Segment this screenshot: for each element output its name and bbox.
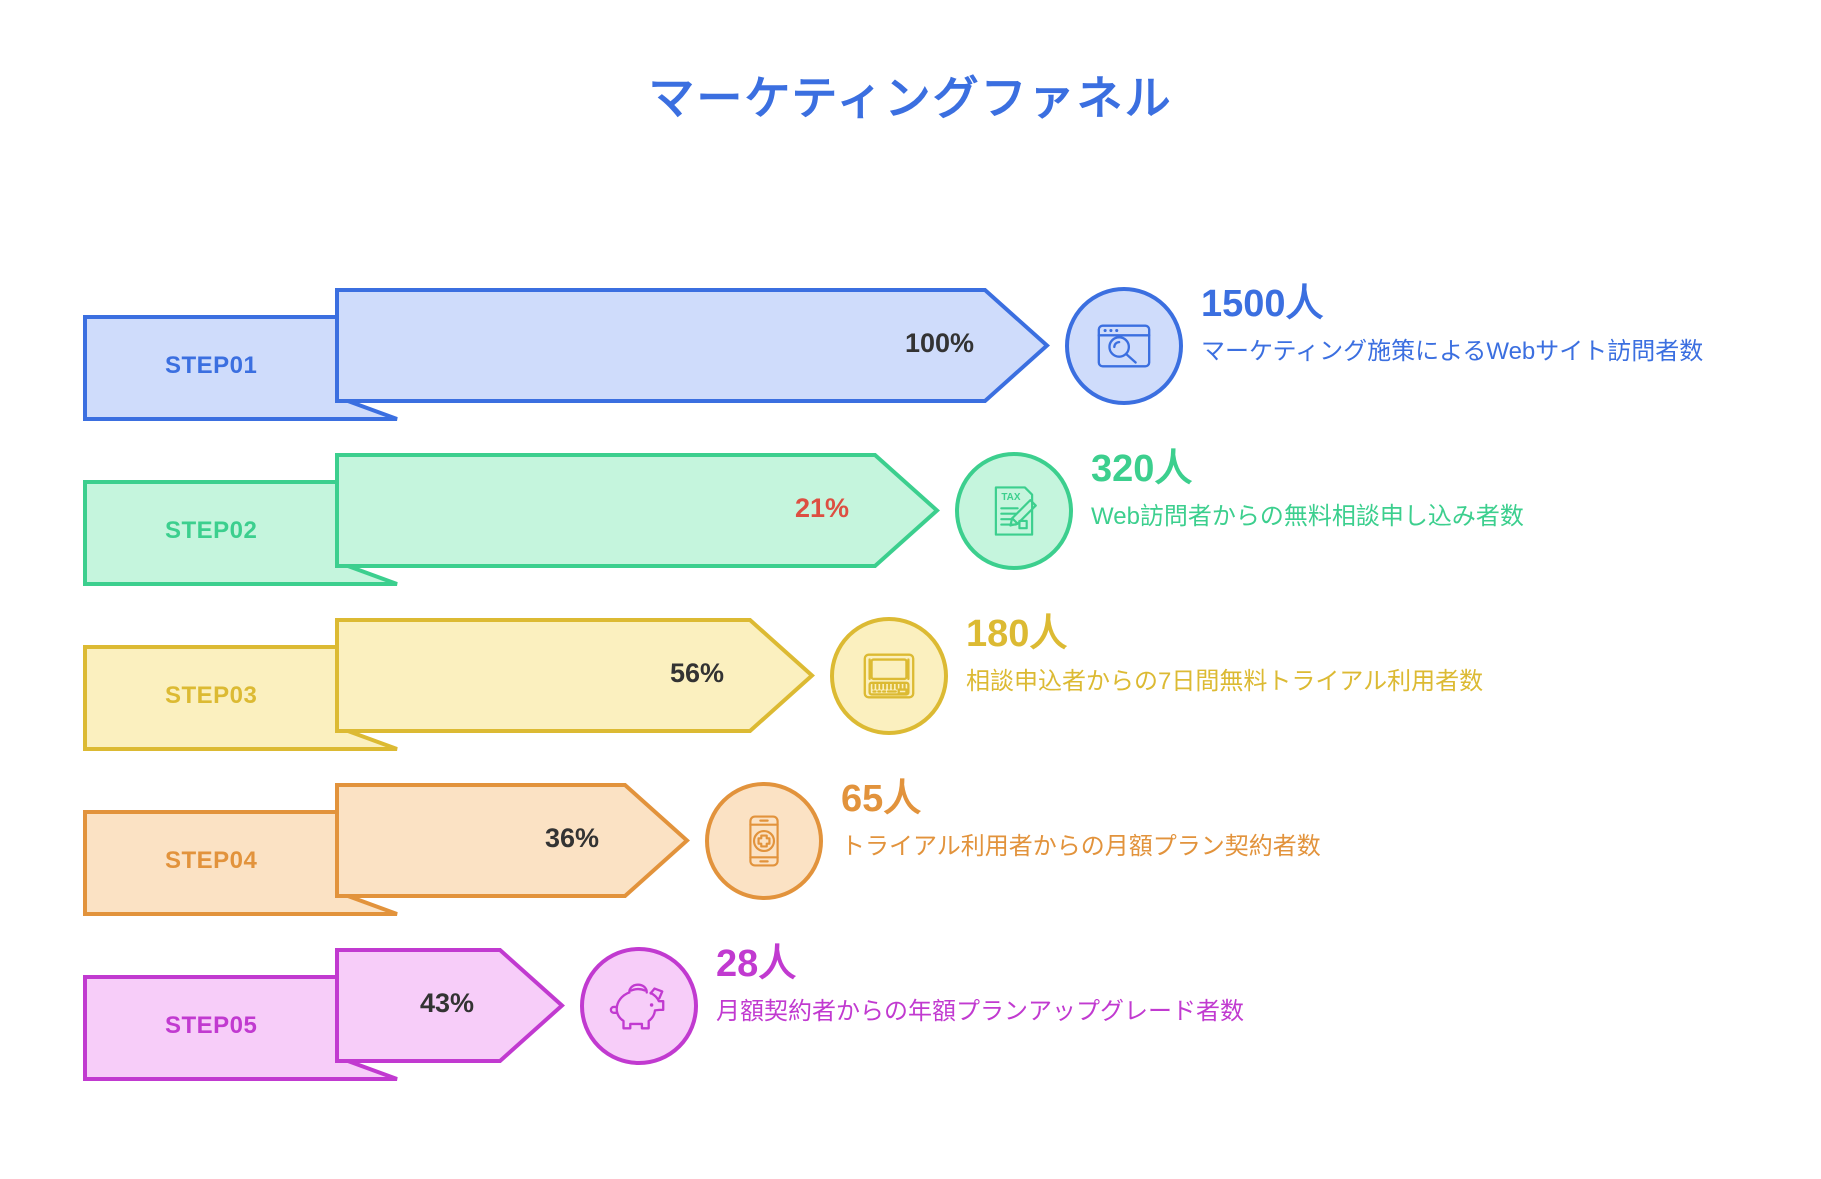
- funnel-step-info: 180人相談申込者からの7日間無料トライアル利用者数: [966, 614, 1526, 700]
- funnel-step-description: 月額契約者からの年額プランアップグレード者数: [716, 995, 1276, 1029]
- funnel-step-info: 320人Web訪問者からの無料相談申し込み者数: [1091, 449, 1651, 535]
- funnel-step-row: STEP01100%1500人マーケティング施策によるWebサイト訪問者数: [0, 290, 1821, 455]
- funnel-step-percent: 36%: [545, 823, 599, 854]
- funnel-step-arrow: [337, 620, 812, 731]
- laptop-icon: [830, 617, 948, 735]
- marketing-funnel-chart: STEP01100%1500人マーケティング施策によるWebサイト訪問者数STE…: [0, 290, 1821, 1115]
- mobile-health-icon: [705, 782, 823, 900]
- funnel-step-amount: 65人: [841, 779, 1401, 821]
- browser-search-icon: [1065, 287, 1183, 405]
- funnel-step-label: STEP04: [165, 847, 257, 875]
- funnel-step-description: 相談申込者からの7日間無料トライアル利用者数: [966, 665, 1526, 699]
- tax-document-pen-icon: TAX: [955, 452, 1073, 570]
- funnel-step-amount: 28人: [716, 944, 1276, 986]
- funnel-step-percent: 43%: [420, 988, 474, 1019]
- funnel-step-row: STEP0221%TAX320人Web訪問者からの無料相談申し込み者数: [0, 455, 1821, 620]
- funnel-step-description: Web訪問者からの無料相談申し込み者数: [1091, 500, 1651, 534]
- funnel-step-info: 28人月額契約者からの年額プランアップグレード者数: [716, 944, 1276, 1030]
- funnel-step-amount: 1500人: [1201, 284, 1761, 326]
- funnel-step-label: STEP03: [165, 682, 257, 710]
- funnel-step-row: STEP0436%65人トライアル利用者からの月額プラン契約者数: [0, 785, 1821, 950]
- funnel-step-description: マーケティング施策によるWebサイト訪問者数: [1201, 335, 1761, 369]
- funnel-step-label: STEP01: [165, 352, 257, 380]
- funnel-step-label: STEP02: [165, 517, 257, 545]
- funnel-step-row: STEP0356%180人相談申込者からの7日間無料トライアル利用者数: [0, 620, 1821, 785]
- funnel-step-percent: 100%: [905, 328, 974, 359]
- funnel-step-description: トライアル利用者からの月額プラン契約者数: [841, 830, 1401, 864]
- funnel-step-info: 1500人マーケティング施策によるWebサイト訪問者数: [1201, 284, 1761, 370]
- funnel-step-amount: 320人: [1091, 449, 1651, 491]
- piggy-bank-icon: [580, 947, 698, 1065]
- funnel-step-amount: 180人: [966, 614, 1526, 656]
- funnel-step-arrow: [337, 785, 687, 896]
- funnel-step-info: 65人トライアル利用者からの月額プラン契約者数: [841, 779, 1401, 865]
- svg-text:TAX: TAX: [1001, 492, 1021, 503]
- funnel-step-label: STEP05: [165, 1012, 257, 1040]
- funnel-step-percent: 21%: [795, 493, 849, 524]
- funnel-step-percent: 56%: [670, 658, 724, 689]
- page-title: マーケティングファネル: [0, 62, 1821, 128]
- funnel-step-row: STEP0543%28人月額契約者からの年額プランアップグレード者数: [0, 950, 1821, 1115]
- funnel-step-shape[interactable]: [85, 950, 510, 1115]
